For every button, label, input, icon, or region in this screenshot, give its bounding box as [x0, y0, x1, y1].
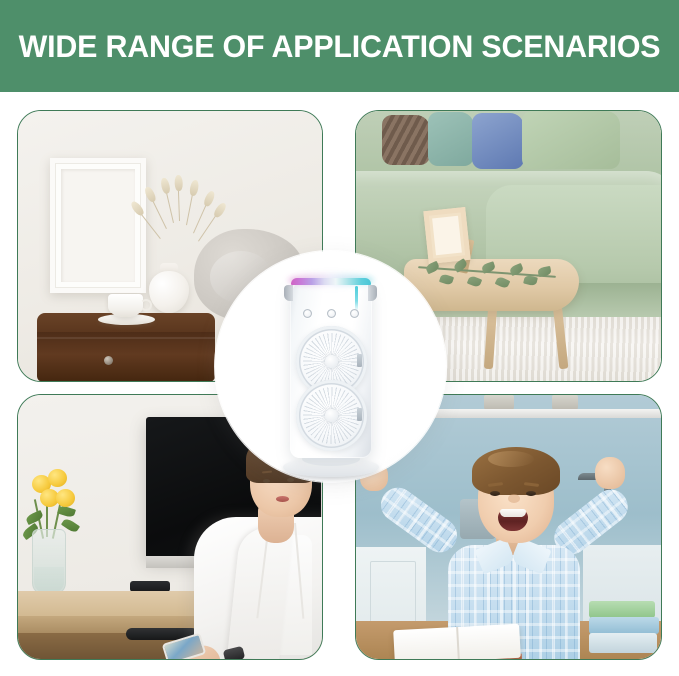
boy-nose	[508, 494, 520, 503]
drawer-knob	[104, 356, 113, 365]
header-banner: WIDE RANGE OF APPLICATION SCENARIOS	[0, 0, 679, 92]
lower-fan-blades-area	[303, 387, 360, 444]
upper-fan-hub	[325, 355, 338, 368]
product-handle-right	[368, 285, 377, 301]
boy-teeth	[500, 509, 526, 517]
product-button-row[interactable]	[303, 308, 359, 319]
boy-eye-right	[526, 491, 536, 496]
power-button[interactable]	[303, 309, 312, 318]
table-picture-mat	[432, 216, 462, 256]
mist-button[interactable]	[350, 309, 359, 318]
cushion-blue	[472, 113, 524, 169]
cup-handle	[140, 299, 152, 311]
book-stack-green	[589, 601, 655, 618]
lower-fan-hub	[325, 409, 338, 422]
nightstand-drawer	[37, 332, 215, 382]
lower-fan-vent	[357, 408, 362, 421]
boy-hair	[472, 447, 560, 495]
cushion-brown-pattern	[382, 115, 430, 165]
coffee-cup	[108, 294, 143, 317]
product-feature-image: WIDE RANGE OF APPLICATION SCENARIOS	[0, 0, 679, 676]
speed-button[interactable]	[327, 309, 336, 318]
product-handle-left	[284, 285, 293, 301]
book-stack-blue	[589, 617, 659, 634]
page-title: WIDE RANGE OF APPLICATION SCENARIOS	[19, 28, 661, 65]
table-picture-frame	[423, 207, 470, 264]
picture-frame-mat	[61, 169, 135, 282]
cushion-teal	[428, 112, 474, 166]
picture-frame	[50, 158, 146, 293]
woman-lips	[276, 496, 289, 502]
cushion-sage	[522, 111, 620, 169]
product-image-portable-fan	[258, 272, 403, 487]
boy-eye-left	[490, 491, 500, 496]
boy-fist-right	[595, 457, 625, 489]
rgb-light-strip	[291, 278, 371, 285]
open-book	[393, 624, 521, 660]
upper-fan-vent	[357, 354, 362, 367]
book-stack-white	[589, 633, 657, 653]
lower-fan-grille	[296, 380, 367, 451]
glass-vase	[32, 529, 66, 595]
